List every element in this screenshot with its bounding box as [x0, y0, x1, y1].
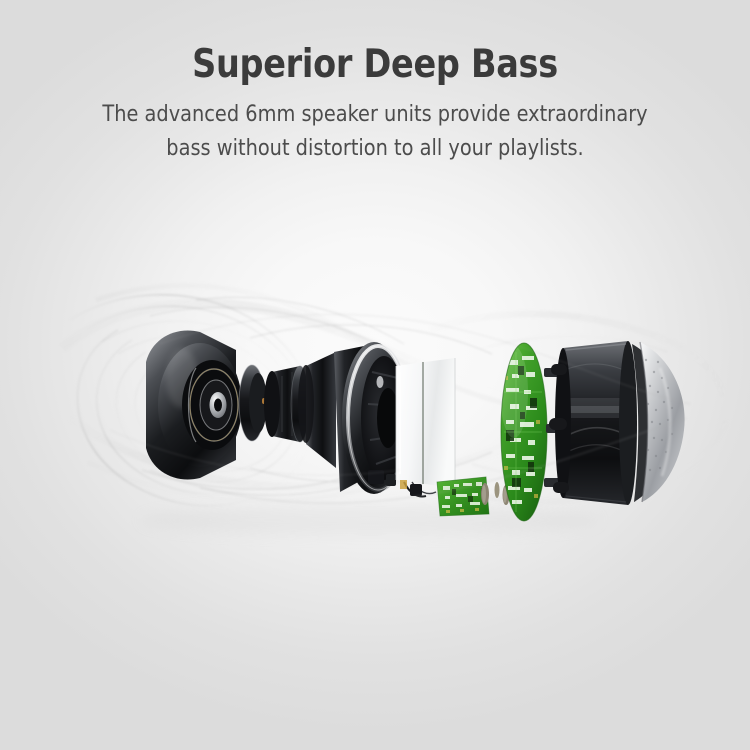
nozzle-stem [264, 352, 336, 468]
subtitle-line-2: bass without distortion to all your play… [13, 132, 737, 165]
battery-block [396, 358, 455, 496]
page-subtitle: The advanced 6mm speaker units provide e… [13, 85, 737, 165]
subtitle-line-1: The advanced 6mm speaker units provide e… [13, 98, 737, 131]
ear-tip [146, 330, 242, 479]
product-feature-banner: Superior Deep Bass The advanced 6mm spea… [0, 0, 750, 750]
page-title: Superior Deep Bass [17, 0, 733, 85]
text-block: Superior Deep Bass The advanced 6mm spea… [0, 0, 750, 165]
rear-shell [549, 341, 637, 505]
